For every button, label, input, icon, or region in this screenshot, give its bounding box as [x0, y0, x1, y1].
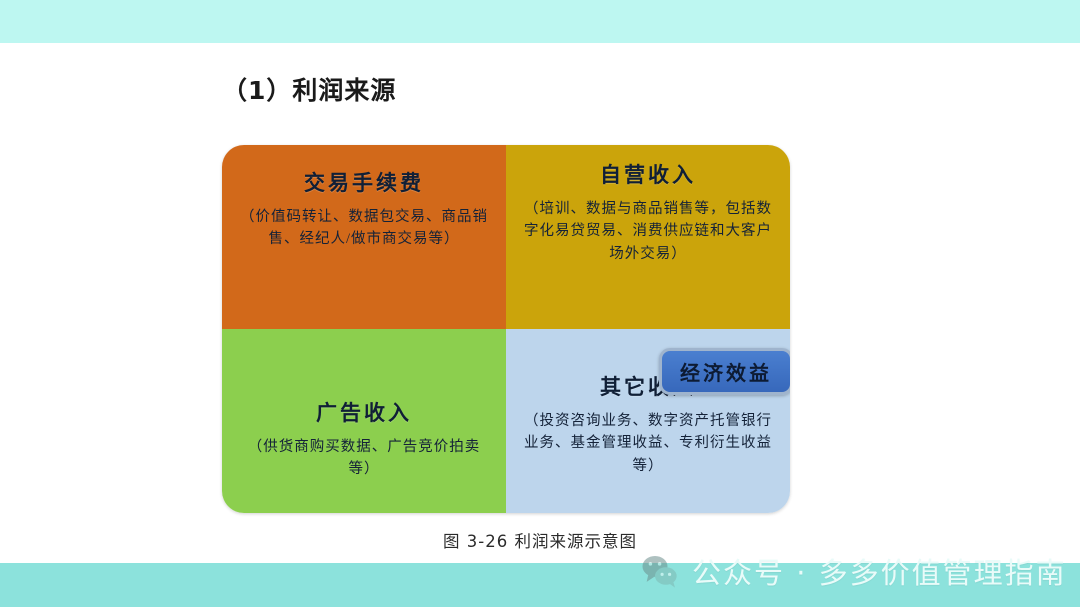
center-badge-label: 经济效益: [680, 357, 772, 386]
quadrant-description: （价值码转让、数据包交易、商品销售、经纪人/做市商交易等）: [236, 206, 492, 251]
top-color-band: [0, 0, 1080, 43]
center-badge-economic-benefit[interactable]: 经济效益: [659, 348, 790, 395]
watermark-text: 公众号 · 多多价值管理指南: [692, 550, 1067, 592]
quadrant-advertising-income[interactable]: 广告收入 （供货商购买数据、广告竞价拍卖等）: [222, 329, 506, 513]
page-title: （1）利润来源: [222, 71, 396, 107]
slide-content: （1）利润来源 交易手续费 （价值码转让、数据包交易、商品销售、经纪人/做市商交…: [0, 43, 1080, 563]
quadrant-title: 自营收入: [600, 159, 696, 189]
watermark: 公众号 · 多多价值管理指南: [640, 545, 1067, 597]
profit-source-quadrant-diagram: 交易手续费 （价值码转让、数据包交易、商品销售、经纪人/做市商交易等） 自营收入…: [222, 145, 790, 513]
quadrant-transaction-fee[interactable]: 交易手续费 （价值码转让、数据包交易、商品销售、经纪人/做市商交易等）: [222, 145, 506, 329]
wechat-icon: [640, 554, 680, 588]
quadrant-title: 交易手续费: [304, 167, 424, 197]
quadrant-description: （投资咨询业务、数字资产托管银行业务、基金管理收益、专利衍生收益等）: [520, 410, 776, 477]
quadrant-title: 广告收入: [316, 397, 412, 427]
quadrant-description: （供货商购买数据、广告竞价拍卖等）: [236, 436, 492, 481]
quadrant-description: （培训、数据与商品销售等，包括数字化易贷贸易、消费供应链和大客户场外交易）: [520, 198, 776, 265]
quadrant-proprietary-income[interactable]: 自营收入 （培训、数据与商品销售等，包括数字化易贷贸易、消费供应链和大客户场外交…: [506, 145, 790, 329]
